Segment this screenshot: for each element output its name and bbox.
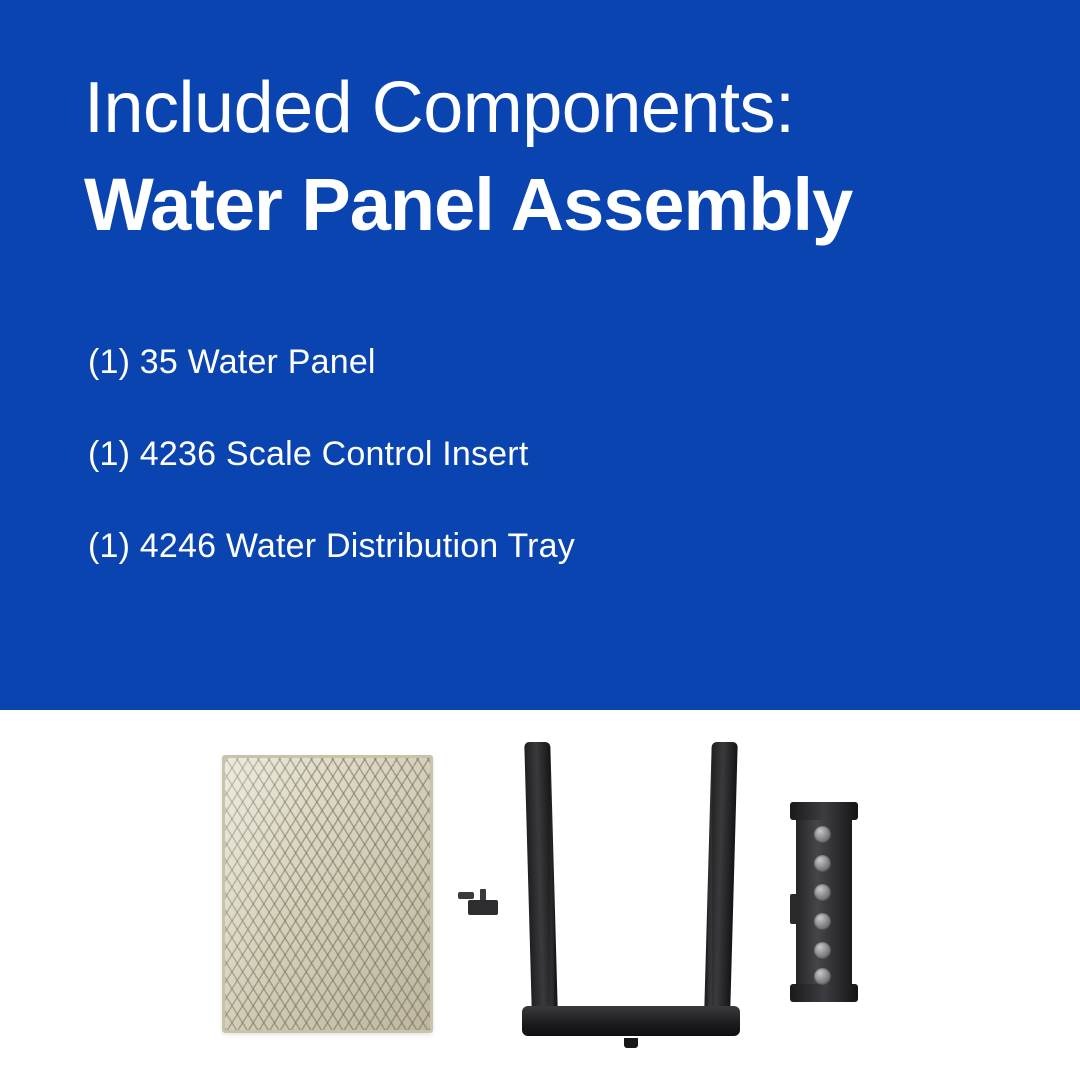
tray-hole (814, 826, 831, 843)
water-panel-shading (225, 758, 430, 1030)
water-panel-part-image (222, 755, 433, 1033)
tray-side-tab (790, 894, 800, 924)
water-distribution-tray-part-image (790, 802, 858, 1002)
page-title-line2: Water Panel Assembly (84, 168, 1044, 242)
scale-insert-stem (458, 892, 474, 899)
frame-foot (624, 1038, 638, 1048)
product-info-card: Included Components: Water Panel Assembl… (0, 0, 1080, 1080)
page-title-line1: Included Components: (84, 72, 1024, 144)
hero-panel: Included Components: Water Panel Assembl… (0, 0, 1080, 710)
tray-hole (814, 884, 831, 901)
list-item: (1) 35 Water Panel (88, 345, 988, 379)
frame-bottom-bar (522, 1006, 740, 1036)
tray-hole (814, 968, 831, 985)
frame-part-image (520, 742, 742, 1042)
tray-hole (814, 942, 831, 959)
tray-hole (814, 913, 831, 930)
frame-inner-channel (550, 750, 712, 1008)
scale-insert-bar (468, 900, 498, 915)
scale-control-insert-part-image (458, 888, 498, 916)
included-components-list: (1) 35 Water Panel (1) 4236 Scale Contro… (88, 345, 988, 621)
tray-top-cap (790, 802, 858, 820)
tray-hole (814, 855, 831, 872)
list-item: (1) 4236 Scale Control Insert (88, 437, 988, 471)
list-item: (1) 4246 Water Distribution Tray (88, 529, 988, 563)
product-photo-area (0, 710, 1080, 1080)
tray-bottom-cap (790, 984, 858, 1002)
